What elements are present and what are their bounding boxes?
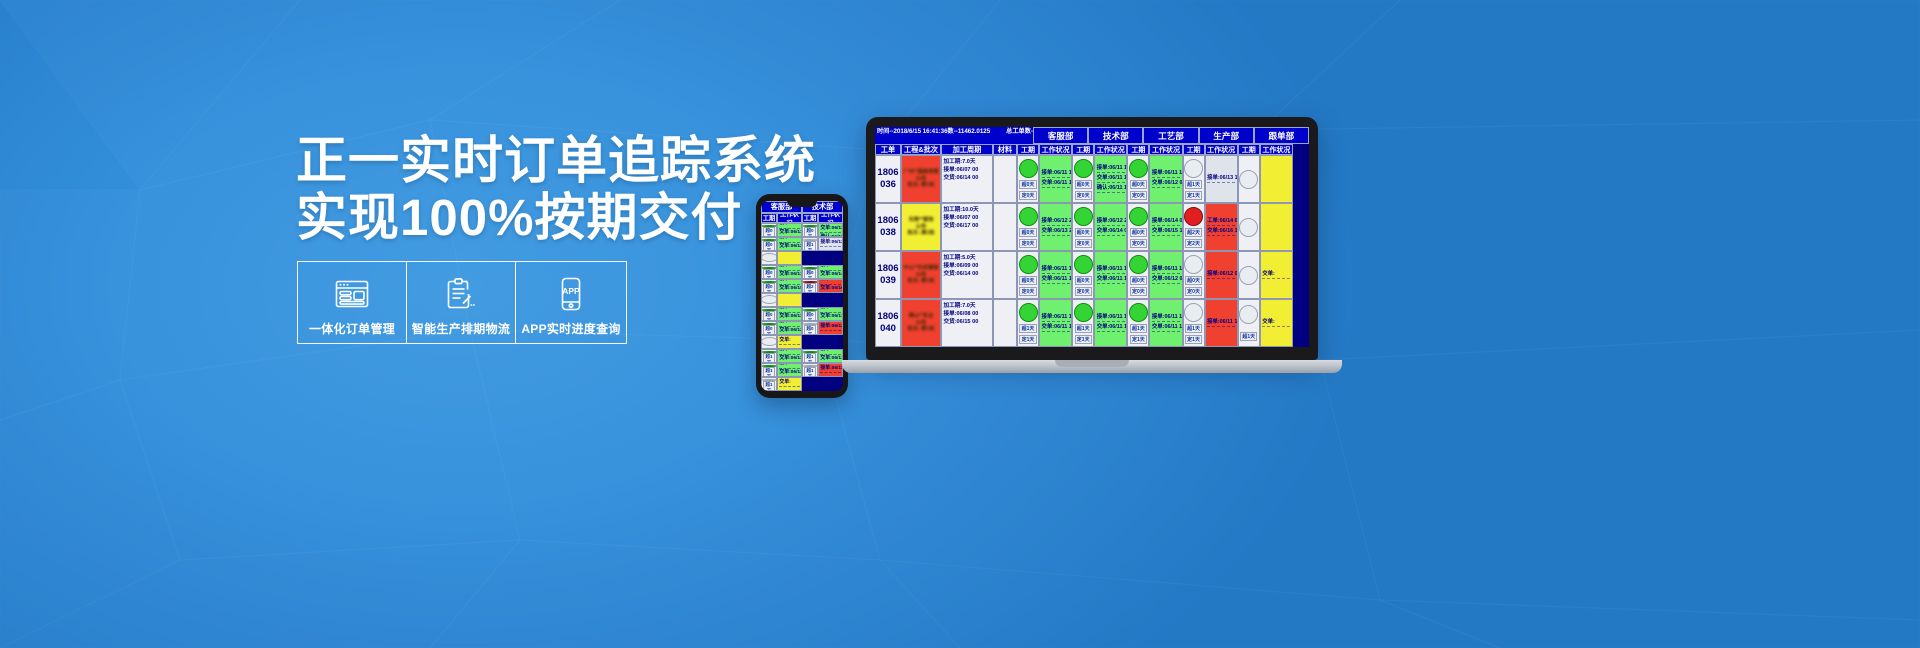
dept-3-duration-cell[interactable]: 超1天定1天 [1183,299,1205,347]
duration-chip-top: 超0天 [1130,180,1147,189]
duration-chip-bottom: 定1天 [1019,335,1036,344]
duration-chip-bottom: 定0天 [1130,191,1147,200]
table-row: 1806036广州**服装有限 公司 批次--第1批加工期:7.0天接单:06/… [875,155,1309,203]
duration-chip-top: 超1天 [1185,180,1202,189]
duration-chip-top: 超1天 [1130,324,1147,333]
status-note-1: 交单:06/12 09 [1152,180,1180,188]
dashboard-timestamp: 时间--2018/6/15 16:41:36 [877,128,948,136]
dept-1-duration-cell[interactable]: 超0天定0天 [802,265,818,279]
batch-cell[interactable]: 佛山**实业 公司 批次--第1批 [901,299,941,347]
duration-chip-bottom: 定2天 [1185,239,1202,248]
dept-1-duration-cell[interactable]: 超1天定1天 [802,349,818,363]
left-column-header-3: 材料 [993,144,1017,155]
material-cell[interactable] [993,251,1017,299]
status-dot-white-icon [1239,218,1258,237]
table-row: 超0天定0天接单:06/11 17交单:06/11 17超0天定0天接单:06/… [761,223,843,265]
duration-chip-top: 超1天 [1185,324,1202,333]
cycle-line-0: 加工期:7.0天 [944,302,991,310]
dept-4-duration-cell[interactable] [761,335,777,349]
dept-1-column-header-0: 工期 [802,213,818,223]
status-note-0: 接单:06/11 17 [779,223,799,229]
dept-0-duration-cell[interactable]: 超0天定0天 [761,307,777,321]
dept-1-status-cell[interactable]: 接单:06/11 17交单:06/11 17 [818,307,843,321]
dept-4-duration-cell[interactable] [761,293,777,307]
dashboard-counts: 数--11462.0125总工单数--38 [948,128,1033,136]
dept-2-status-cell[interactable]: 接单:06/11 17交单:06/12 09 [777,321,802,335]
status-dot-red-icon [1184,207,1203,226]
cycle-line-1: 接单:06/09 00 [944,262,991,270]
status-note-1: 交单:06/15 14 [1152,228,1180,236]
dept-4-status-cell[interactable] [777,293,802,307]
status-note-0: 接单:06/11 17 [820,307,840,313]
status-dot-green-icon [1074,159,1093,178]
duration-chip-top: 超0天 [1130,276,1147,285]
dept-0-duration-cell[interactable]: 超1天定1天 [1017,299,1039,347]
dept-2-column-header-1: 工作状况 [1149,144,1182,155]
duration-chip-top: 超2天 [804,283,816,293]
dept-4-column-header-0: 工期 [1238,144,1260,155]
batch-text: 佛山**实业 公司 批次--第1批 [907,313,934,333]
laptop-lid: 时间--2018/6/15 16:41:36数--11462.0125总工单数-… [866,117,1318,360]
duration-chip-top: 超1天 [1019,324,1036,333]
smartphone-mockup: 客服部技术部工期工作状况工期工作状况超0天定0天接单:06/11 17交单:06… [756,194,848,398]
dept-2-status-cell[interactable]: 接单:06/11 17交单:06/12 09 [777,237,802,251]
duration-chip-bottom: 定0天 [1075,239,1092,248]
status-dot-green-icon [1019,207,1038,226]
status-note-0: 接单:06/11 17 [1152,170,1180,178]
batch-text: 广州**服装有限 公司 批次--第1批 [903,169,938,189]
duration-chip-top: 超0天 [1075,180,1092,189]
status-note-0: 接单:06/11 17 [1152,314,1180,322]
duration-chip-top: 超0天 [763,325,775,335]
dept-1-status-cell[interactable]: 接单:06/11 17交单:06/11 17确认:06/11 17 [1094,155,1127,203]
dept-0-status-cell[interactable]: 接单:06/11 17交单:06/11 17 [1039,251,1072,299]
duration-chip-top: 超0天 [804,269,816,279]
dept-1-status-cell[interactable]: 接单:06/12 20交单:06/14 08 [1094,203,1127,251]
dept-0-column-header-0: 工期 [1017,144,1039,155]
duration-chip-bottom: 定0天 [1019,239,1036,248]
batch-text: 东莞**服饰 公司 批次--第2批 [907,217,934,237]
cycle-line-0: 加工期:10.0天 [944,206,991,214]
dept-3-duration-cell[interactable]: 超2天定2天 [1183,203,1205,251]
feature-box-app-tracking[interactable]: APP APP实时进度查询 [515,261,627,344]
dashboard-order-count: 数--11462.0125 [948,128,991,136]
dept-3-column-header-1: 工作状况 [1205,144,1238,155]
status-dot-green-icon [1019,303,1038,322]
duration-chip-bottom: 定0天 [1130,239,1147,248]
duration-chip-top: 超0天 [1019,180,1036,189]
status-dot-green-icon [1074,207,1093,226]
cycle-line-0: 加工期:7.0天 [944,158,991,166]
dept-0-status-cell[interactable]: 接单:06/11 17交单:06/11 17 [1039,155,1072,203]
dept-4-duration-cell[interactable]: 超1天 [1238,299,1260,347]
duration-chip-top: 超1天 [763,367,775,377]
dept-1-duration-cell[interactable]: 超0天定0天 [802,223,818,237]
duration-chip-top: 超1天 [804,367,816,377]
laptop-mockup: 时间--2018/6/15 16:41:36数--11462.0125总工单数-… [866,117,1318,373]
status-dot-white-icon [1239,305,1258,324]
status-dot-white-icon [1239,170,1258,189]
dept-0-status-cell[interactable]: 接单:06/11 17交单:06/11 17 [777,307,802,321]
dept-header-0: 客服部 [1033,127,1088,144]
dept-0-status-cell[interactable]: 接单:06/12 20交单:06/13 20 [777,265,802,279]
dept-1-status-cell[interactable]: 接单:06/11 17交单:06/11 17 [818,349,843,363]
status-dot-green-icon [1129,159,1148,178]
table-row: 1806040佛山**实业 公司 批次--第1批加工期:7.0天接单:06/08… [875,299,1309,347]
dept-0-duration-cell[interactable]: 超0天定0天 [761,223,777,237]
dept-3-status-cell[interactable]: 接单:06/13 10 [818,237,843,251]
status-note-1: 交单:06/16 14 [820,286,840,292]
order-number-line-1: 1806 [877,167,898,179]
status-dot-green-icon [1019,159,1038,178]
cycle-cell[interactable]: 加工期:10.0天接单:06/07 00交货:06/17 00 [941,203,993,251]
table-row: 超0天定0天接单:06/11 17交单:06/11 17超0天定0天接单:06/… [761,307,843,349]
status-note-1: 交单:06/11 17 [1097,276,1125,284]
status-dot-green-icon [1074,255,1093,274]
duration-chip-top: 超0天 [804,227,816,237]
status-note-0: 接单:06/12 20 [779,265,799,271]
status-note-1: 交单:06/11 17 [1097,324,1125,332]
duration-chip-top: 超0天 [1075,228,1092,237]
duration-chip-bottom: 定0天 [1075,191,1092,200]
status-note-0: 接单:06/11 17 [1042,266,1070,274]
status-note-1: 交单:06/11 17 [1042,276,1070,284]
feature-label: 一体化订单管理 [309,320,395,337]
status-note-1: 交单:06/16 14 [1207,228,1235,236]
cycle-cell[interactable]: 加工期:7.0天接单:06/08 00交货:06/15 00 [941,299,993,347]
order-tracking-dashboard[interactable]: 时间--2018/6/15 16:41:36数--11462.0125总工单数-… [875,127,1309,347]
status-note-0: 接单:06/11 17 [1152,266,1180,274]
status-note-0: 接单:06/12 09 [820,324,840,331]
status-note-0: 交单: [1262,271,1290,279]
status-dot-green-icon [1129,207,1148,226]
status-note-0: 接单:06/12 20 [1042,218,1070,226]
material-cell[interactable] [993,203,1017,251]
table-row: 超1天定1天接单:06/11 17交单:06/11 17超1天定1天接单:06/… [761,349,843,391]
dept-4-duration-cell[interactable]: 超1天 [761,377,777,391]
dept-0-column-header-1: 工作状况 [777,213,802,223]
status-dot-green-icon [1129,255,1148,274]
feature-box-list: 一体化订单管理 智能生产排期物流 [297,261,626,344]
status-note-1: 交单:06/11 17 [820,226,840,233]
order-number-cell[interactable]: 1806038 [875,203,901,251]
duration-chip-top: 超1天 [1240,332,1257,341]
duration-chip-top: 超1天 [763,381,775,391]
batch-cell[interactable]: 中山**针织服装 公司 批次--第1批 [901,251,941,299]
phone-screen[interactable]: 客服部技术部工期工作状况工期工作状况超0天定0天接单:06/11 17交单:06… [761,201,843,391]
clipboard-checklist-icon [446,275,476,313]
dept-3-status-cell[interactable]: 接单:06/12 09 [1205,251,1238,299]
duration-chip-top: 超0天 [1075,276,1092,285]
dept-1-duration-cell[interactable]: 超0天定0天 [802,307,818,321]
status-note-1: 交单:06/11 17 [1042,180,1070,188]
dept-1-status-cell[interactable]: 接单:06/11 17交单:06/11 17 [1094,251,1127,299]
duration-chip-top: 超0天 [763,227,775,237]
status-dot-white-icon [761,337,777,346]
dept-1-duration-cell[interactable]: 超0天定0天 [1072,251,1094,299]
order-number-line-2: 039 [880,275,896,287]
dept-1-status-cell[interactable]: 接单:06/11 17交单:06/11 17确认:06/11 17 [818,223,843,237]
status-note-0: 接单:06/11 17 [1097,314,1125,322]
status-dot-white-icon [1184,159,1203,178]
dept-2-duration-cell[interactable]: 超1天定1天 [1127,299,1149,347]
batch-cell[interactable]: 东莞**服饰 公司 批次--第2批 [901,203,941,251]
dept-2-duration-cell[interactable]: 超0天定0天 [761,321,777,335]
status-dot-green-icon [1019,255,1038,274]
dept-2-duration-cell[interactable]: 超0天定0天 [761,279,777,293]
dept-1-status-cell[interactable]: 接单:06/11 17交单:06/11 17 [1094,299,1127,347]
dept-4-duration-cell[interactable] [1238,155,1260,203]
dept-3-status-cell[interactable]: 接单:06/13 10 [1205,155,1238,203]
dept-4-status-cell[interactable]: 交单: [777,335,802,349]
dept-2-duration-cell[interactable]: 超0天定0天 [1127,155,1149,203]
order-number-cell[interactable]: 1806036 [875,155,901,203]
dept-1-column-header-1: 工作状况 [1094,144,1127,155]
duration-chip-top: 超0天 [804,311,816,321]
dept-0-duration-cell[interactable]: 超0天定0天 [1017,203,1039,251]
dept-0-column-header-1: 工作状况 [1039,144,1072,155]
dept-4-duration-cell[interactable] [761,251,777,265]
duration-chip-top: 超1天 [763,353,775,363]
order-number-line-2: 036 [880,179,896,191]
status-note-0: 接单:06/11 17 [820,349,840,355]
order-number-line-1: 1806 [877,263,898,275]
left-column-header-2: 加工周期 [941,144,993,155]
dept-0-column-header-0: 工期 [761,213,777,223]
feature-box-smart-scheduling[interactable]: 智能生产排期物流 [406,261,516,344]
duration-chip-bottom: 定1天 [1130,335,1147,344]
duration-chip-bottom: 定0天 [1075,287,1092,296]
status-note-0: 接单:06/11 17 [779,321,799,327]
duration-chip-top: 超1天 [804,353,816,363]
status-dot-white-icon [761,295,777,304]
cycle-cell[interactable]: 加工期:5.0天接单:06/09 00交货:06/14 00 [941,251,993,299]
duration-chip-bottom: 定1天 [1185,191,1202,200]
cycle-cell[interactable]: 加工期:7.0天接单:06/07 00交货:06/14 00 [941,155,993,203]
dept-1-duration-cell[interactable]: 超0天定0天 [1072,155,1094,203]
dept-2-status-cell[interactable]: 接单:06/11 17交单:06/11 17 [777,363,802,377]
status-note-0: 交单: [779,338,799,345]
dept-3-duration-cell[interactable]: 超1天定1天 [802,237,818,251]
cycle-line-2: 交货:06/14 00 [944,174,991,182]
dept-3-status-cell[interactable]: 接单:06/11 17 [818,363,843,377]
dept-3-duration-cell[interactable]: 超1天定1天 [802,363,818,377]
dept-3-status-cell[interactable]: 接单:06/12 09 [818,321,843,335]
status-note-0: 接单:06/11 17 [820,223,840,225]
dept-3-duration-cell[interactable]: 超1天定1天 [1183,155,1205,203]
status-note-0: 接单:06/11 17 [1207,319,1235,327]
dept-0-status-cell[interactable]: 接单:06/11 17交单:06/11 17 [777,349,802,363]
dept-4-status-cell[interactable] [1260,155,1293,203]
cycle-line-2: 交货:06/15 00 [944,318,991,326]
status-note-0: 接单:06/13 10 [820,240,840,247]
dept-3-duration-cell[interactable]: 超2天定2天 [802,279,818,293]
status-note-0: 接单:06/11 17 [1042,314,1070,322]
dept-header-4: 跟单部 [1254,127,1309,144]
status-note-1: 交单:06/14 08 [1097,228,1125,236]
status-note-0: 接单:06/12 09 [1207,271,1235,279]
laptop-base-notch [1055,360,1129,367]
status-note-0: 接单:06/11 17 [779,307,799,313]
status-note-1: 交单:06/11 17 [1152,324,1180,332]
dept-4-status-cell[interactable] [1260,203,1293,251]
duration-chip-top: 超1天 [1075,324,1092,333]
dept-4-column-header-1: 工作状况 [1260,144,1293,155]
feature-box-order-management[interactable]: 一体化订单管理 [297,261,407,344]
order-number-line-1: 1806 [877,215,898,227]
dept-header-3: 生产部 [1199,127,1254,144]
dept-2-status-cell[interactable]: 接单:06/11 17交单:06/12 09 [1149,155,1182,203]
dept-3-status-cell[interactable]: 工单:06/14 08交单:06/16 14 [818,279,843,293]
status-note-0: 接单:06/11 17 [1097,266,1125,274]
status-note-0: 接单:06/11 17 [1042,170,1070,178]
status-note-0: 接单:06/14 08 [1152,218,1180,226]
cycle-line-2: 交货:06/17 00 [944,222,991,230]
order-number-line-2: 038 [880,227,896,239]
status-note-2: 确认:06/11 17 [1097,185,1125,193]
dept-4-status-cell[interactable] [777,251,802,265]
cycle-line-1: 接单:06/08 00 [944,310,991,318]
dept-0-status-cell[interactable]: 接单:06/11 17交单:06/11 17 [1039,299,1072,347]
status-dot-white-icon [1184,255,1203,274]
dept-3-column-header-0: 工期 [1183,144,1205,155]
phone-dashboard[interactable]: 客服部技术部工期工作状况工期工作状况超0天定0天接单:06/11 17交单:06… [761,201,843,391]
status-note-0: 接单:06/14 08 [779,279,799,285]
dept-1-column-header-0: 工期 [1072,144,1094,155]
dept-header-2: 工艺部 [1143,127,1198,144]
dept-4-duration-cell[interactable] [1238,203,1260,251]
dashboard-meta-header: 时间--2018/6/15 16:41:36数--11462.0125总工单数-… [875,127,1033,137]
dept-3-duration-cell[interactable]: 超0天定0天 [1183,251,1205,299]
duration-chip-bottom: 定0天 [1019,287,1036,296]
dept-2-duration-cell[interactable]: 超1天定1天 [761,363,777,377]
status-note-0: 接单:06/11 17 [820,366,840,373]
table-row: 1806038东莞**服饰 公司 批次--第2批加工期:10.0天接单:06/0… [875,203,1309,251]
dept-1-duration-cell[interactable]: 超1天定1天 [1072,299,1094,347]
dept-4-duration-cell[interactable] [1238,251,1260,299]
phone-notch [787,201,817,207]
cycle-line-1: 接单:06/07 00 [944,166,991,174]
dept-2-column-header-0: 工期 [1127,144,1149,155]
duration-chip-top: 超0天 [763,283,775,293]
status-note-1: 交单:06/12 09 [1152,276,1180,284]
banner-stage: 正一实时订单追踪系统 实现100%按期交付 一体化订单管理 [0,0,1920,648]
dept-4-status-cell[interactable]: 交单: [1260,251,1293,299]
duration-chip-top: 超0天 [763,269,775,279]
dept-2-duration-cell[interactable]: 超0天定0天 [1127,251,1149,299]
status-note-0: 接单:06/13 10 [1207,175,1235,183]
dept-0-status-cell[interactable]: 接单:06/11 17交单:06/11 17 [777,223,802,237]
duration-chip-top: 超0天 [1185,276,1202,285]
status-dot-green-icon [1129,303,1148,322]
dept-2-status-cell[interactable]: 接单:06/11 17交单:06/11 17 [1149,299,1182,347]
dept-2-status-cell[interactable]: 接单:06/14 08交单:06/15 14 [1149,203,1182,251]
batch-cell[interactable]: 广州**服装有限 公司 批次--第1批 [901,155,941,203]
dept-2-status-cell[interactable]: 接单:06/11 17交单:06/12 09 [1149,251,1182,299]
status-note-0: 交单: [779,380,799,387]
duration-chip-bottom: 定0天 [1130,287,1147,296]
duration-chip-top: 超0天 [763,311,775,321]
left-column-header-1: 工程&批次 [901,144,941,155]
status-note-1: 交单:06/11 17 [1042,324,1070,332]
dept-3-status-cell[interactable]: 接单:06/11 17 [1205,299,1238,347]
feature-label: APP实时进度查询 [521,320,620,337]
duration-chip-bottom: 定0天 [1185,287,1202,296]
status-note-0: 交单: [1262,319,1290,327]
dept-1-duration-cell[interactable]: 超0天定0天 [1072,203,1094,251]
order-number-cell[interactable]: 1806039 [875,251,901,299]
dept-0-duration-cell[interactable]: 超0天定0天 [1017,251,1039,299]
dept-2-duration-cell[interactable]: 超0天定0天 [761,237,777,251]
cycle-line-2: 交货:06/14 00 [944,270,991,278]
dept-0-duration-cell[interactable]: 超0天定0天 [1017,155,1039,203]
dept-1-status-cell[interactable]: 接单:06/12 20交单:06/14 08 [818,265,843,279]
dept-0-status-cell[interactable]: 接单:06/12 20交单:06/13 20 [1039,203,1072,251]
status-note-0: 接单:06/12 20 [1097,218,1125,226]
status-note-0: 工单:06/14 08 [1207,218,1235,226]
material-cell[interactable] [993,299,1017,347]
dept-0-duration-cell[interactable]: 超1天定1天 [761,349,777,363]
feature-label: 智能生产排期物流 [412,320,510,337]
dept-2-duration-cell[interactable]: 超0天定0天 [1127,203,1149,251]
dept-4-status-cell[interactable]: 交单: [1260,299,1293,347]
duration-chip-top: 超0天 [1019,228,1036,237]
cycle-line-1: 接单:06/07 00 [944,214,991,222]
dept-1-column-header-1: 工作状况 [818,213,843,223]
headline-line-1: 正一实时订单追踪系统 [296,132,816,189]
left-column-header-0: 工单 [875,144,901,155]
status-dot-white-icon [1184,303,1203,322]
batch-text: 中山**针织服装 公司 批次--第1批 [903,265,938,285]
phone-body: 客服部技术部工期工作状况工期工作状况超0天定0天接单:06/11 17交单:06… [756,194,848,398]
dept-0-duration-cell[interactable]: 超0天定0天 [761,265,777,279]
laptop-base [842,360,1342,373]
cycle-line-0: 加工期:5.0天 [944,254,991,262]
dashboard-window-icon [335,275,369,313]
dashboard-total-orders: 总工单数--38 [1006,128,1033,136]
dashboard-meta-wrap: 时间--2018/6/15 16:41:36数--11462.0125总工单数-… [875,127,1033,144]
status-dot-white-icon [1239,266,1258,285]
table-row: 超0天定0天接单:06/12 20交单:06/13 20超0天定0天接单:06/… [761,265,843,307]
status-dot-white-icon [761,253,777,262]
table-row: 1806039中山**针织服装 公司 批次--第1批加工期:5.0天接单:06/… [875,251,1309,299]
status-note-0: 接单:06/12 20 [820,265,840,271]
order-number-cell[interactable]: 1806040 [875,299,901,347]
status-note-0: 接单:06/11 17 [779,363,799,369]
status-dot-green-icon [1074,303,1093,322]
material-cell[interactable] [993,155,1017,203]
dept-3-duration-cell[interactable]: 超0天定0天 [802,321,818,335]
laptop-screen[interactable]: 时间--2018/6/15 16:41:36数--11462.0125总工单数-… [875,127,1309,347]
dept-3-status-cell[interactable]: 工单:06/14 08交单:06/16 14 [1205,203,1238,251]
duration-chip-top: 超0天 [1130,228,1147,237]
dashboard-column-headers: 工期工作状况工期工作状况 [761,213,843,223]
status-note-0: 接单:06/11 17 [779,349,799,355]
duration-chip-top: 超2天 [1185,228,1202,237]
svg-text:APP: APP [562,286,580,296]
order-number-line-2: 040 [880,323,896,335]
duration-chip-bottom: 定0天 [1019,191,1036,200]
dept-header-1: 技术部 [1088,127,1143,144]
duration-chip-top: 超1天 [804,241,816,251]
dept-2-status-cell[interactable]: 接单:06/14 08交单:06/15 14 [777,279,802,293]
dept-4-status-cell[interactable]: 交单: [777,377,802,391]
duration-chip-bottom: 定1天 [1185,335,1202,344]
duration-chip-top: 超0天 [1019,276,1036,285]
duration-chip-bottom: 定1天 [1075,335,1092,344]
status-note-0: 接单:06/11 17 [1097,165,1125,173]
dashboard-column-headers: 工单工程&批次加工周期材料工期工作状况工期工作状况工期工作状况工期工作状况工期工… [875,144,1309,155]
